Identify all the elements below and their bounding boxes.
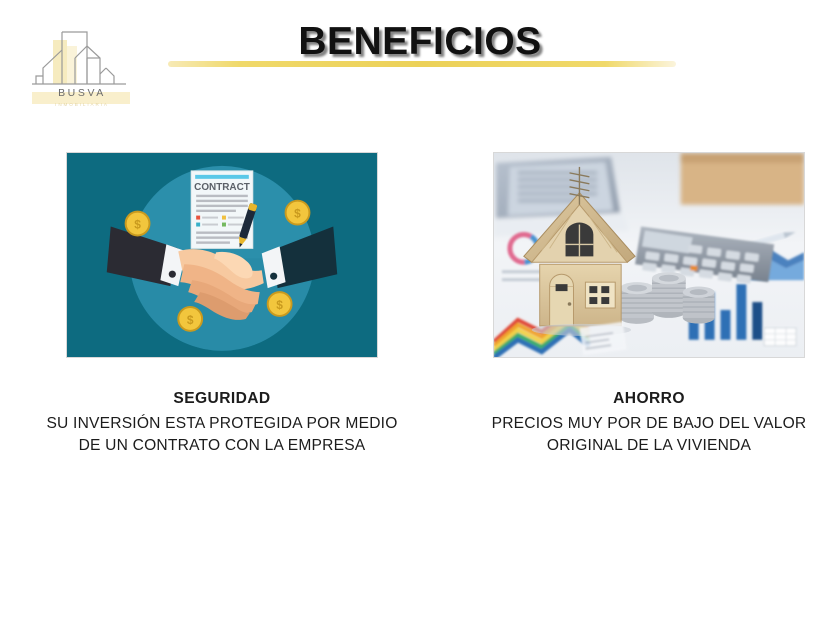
logo-tagline: INMOBILIARIA [55,102,109,107]
logo-wordmark: BUSVA [58,87,106,99]
benefit-heading: AHORRO [463,388,835,411]
svg-text:$: $ [134,218,141,232]
dollar-coin: $ [268,292,292,316]
benefit-column-seguridad: CONTRACT [66,152,378,358]
handshake-contract-illustration: CONTRACT [66,152,378,358]
benefit-column-ahorro [493,152,805,358]
svg-text:$: $ [187,313,194,327]
contract-label: CONTRACT [194,182,250,193]
svg-text:$: $ [294,207,301,221]
page-title: BENEFICIOS [0,20,840,64]
svg-text:$: $ [276,298,283,312]
benefit-caption-ahorro: AHORRO PRECIOS MUY POR DE BAJO DEL VALOR… [463,388,835,458]
benefit-body: PRECIOS MUY POR DE BAJO DEL VALOR ORIGIN… [463,413,835,458]
dollar-coin: $ [126,212,150,236]
benefit-heading: SEGURIDAD [36,388,408,411]
benefit-body: SU INVERSIÓN ESTA PROTEGIDA POR MEDIO DE… [36,413,408,458]
handshake-contract-svg: CONTRACT [67,153,377,358]
dollar-coin: $ [178,307,202,331]
house-model-savings-photo [493,152,805,358]
title-underline-rule [168,61,676,67]
dollar-coin: $ [286,201,310,225]
benefit-caption-seguridad: SEGURIDAD SU INVERSIÓN ESTA PROTEGIDA PO… [36,388,408,458]
house-model-savings-svg [494,153,804,358]
